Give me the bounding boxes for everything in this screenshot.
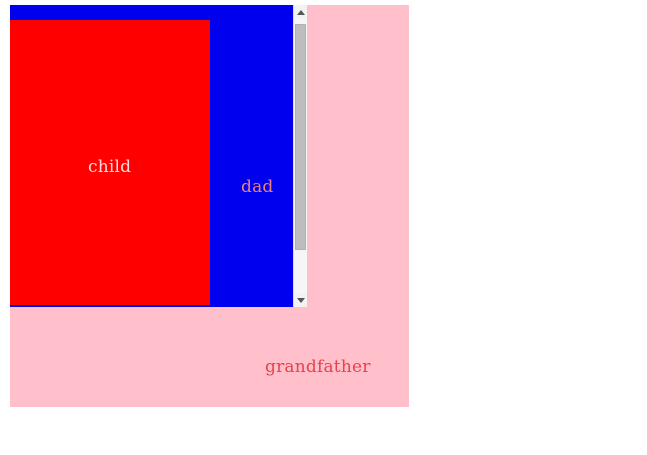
triangle-up-icon [297,10,305,15]
scrollbar-thumb[interactable] [295,24,306,250]
child-box: child [10,20,210,305]
dad-label: dad [241,177,274,197]
child-label: child [88,157,131,177]
scrollbar-up-button[interactable] [294,5,307,19]
scrollbar-track[interactable] [294,19,307,293]
scrollbar-down-button[interactable] [294,293,307,307]
triangle-down-icon [297,298,305,303]
grandfather-label: grandfather [265,357,371,377]
dad-box: child dad [10,5,307,307]
grandfather-box: child dad grandfather [10,5,409,407]
dad-vertical-scrollbar[interactable] [293,5,307,307]
dad-scroll-viewport: child dad [10,5,293,307]
